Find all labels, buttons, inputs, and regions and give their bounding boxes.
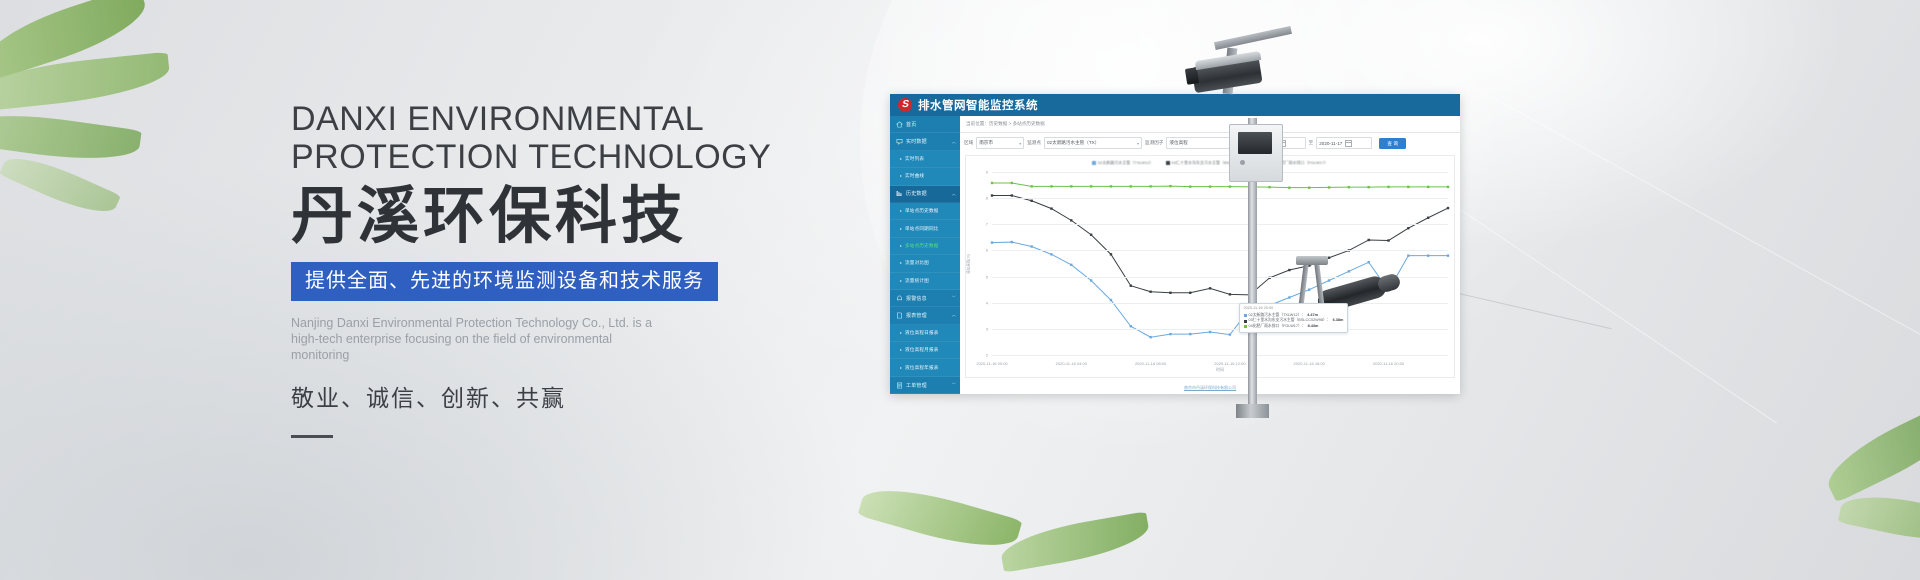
chart-data-point	[1189, 292, 1191, 294]
date-range-separator: 至	[1309, 140, 1314, 146]
hero-description: Nanjing Danxi Environmental Protection T…	[291, 315, 673, 363]
bullet-icon	[900, 280, 902, 282]
chart-data-point	[1130, 325, 1132, 327]
chart-data-point	[1149, 336, 1151, 338]
chart-data-point	[1090, 234, 1092, 236]
chart-data-point	[1070, 219, 1072, 221]
app-body: 首页实时数据︿实时列表实时曲线历史数据︿单站点历史数据单站点同期同比多站点历史数…	[890, 116, 1460, 394]
tooltip-marker-icon	[1244, 325, 1247, 328]
sidebar-item-label: 单站点同期同比	[905, 226, 939, 232]
chart-data-point	[1110, 185, 1112, 187]
chart-data-point	[1288, 186, 1290, 188]
chart-data-point	[1367, 239, 1369, 241]
chart-data-point	[1050, 185, 1052, 187]
bullet-icon	[900, 349, 902, 351]
sidebar-item-label: 实时曲线	[905, 173, 924, 179]
app-footer: 南京市丹溪环保科技有限公司	[960, 382, 1460, 394]
chart-data-point	[1169, 292, 1171, 294]
chart-data-point	[1050, 207, 1052, 209]
chart-data-point	[1011, 241, 1013, 243]
sidebar-item-label: 实时数据	[906, 138, 927, 145]
sidebar-item-10[interactable]: 报警信息﹀	[890, 290, 960, 307]
chart-x-tick-label: 2020-11-16 12:00	[1214, 361, 1245, 366]
chart-data-point	[1367, 186, 1369, 188]
chart-y-tick-label: 9	[968, 170, 988, 175]
sidebar-item-14[interactable]: 液位高程年报表	[890, 359, 960, 376]
chart-data-point	[1407, 186, 1409, 188]
sidebar-item-label: 报表管理	[906, 312, 927, 319]
legend-label: 02太新路污水主管（TXLW12）	[1098, 160, 1154, 166]
tooltip-marker-icon	[1244, 314, 1247, 317]
chart-data-point	[1268, 186, 1270, 188]
chart-data-point	[1328, 186, 1330, 188]
chart-y-tick-label: 2	[968, 353, 988, 358]
sidebar-item-7[interactable]: 多站点历史数据	[890, 238, 960, 255]
company-logo-icon: S	[898, 98, 912, 112]
app-title: 排水管网智能监控系统	[918, 97, 1038, 113]
sidebar-item-label: 实时列表	[905, 156, 924, 162]
chart-data-point	[1169, 185, 1171, 187]
chart-data-point	[991, 182, 993, 184]
tooltip-row-2: 04化肥厂雨水排口（FGLW17）：8.43m	[1244, 324, 1344, 330]
home-icon	[896, 121, 903, 128]
hero-tagline: 提供全面、先进的环境监测设备和技术服务	[291, 262, 718, 301]
chart-data-point	[1348, 270, 1350, 272]
sidebar-item-label: 流量统计图	[905, 278, 929, 284]
page-title: 丹溪环保科技	[291, 180, 851, 254]
equipment-cabinet-indicator	[1240, 160, 1245, 165]
footer-link[interactable]: 南京市丹溪环保科技有限公司	[1184, 385, 1236, 391]
monitoring-dashboard-window: S 排水管网智能监控系统 首页实时数据︿实时列表实时曲线历史数据︿单站点历史数据…	[890, 94, 1460, 394]
chart-x-tick-label: 2020-11-16 16:00	[1294, 361, 1325, 366]
chart-gridline	[992, 224, 1448, 225]
chart-data-point	[1070, 264, 1072, 266]
tooltip-series-value: 8.43m	[1308, 324, 1319, 330]
sidebar-item-label: 单站点历史数据	[905, 208, 939, 214]
chart-data-point	[1427, 186, 1429, 188]
breadcrumb: 当前位置：历史数据 > 多站点历史数据	[960, 116, 1460, 133]
sidebar-item-label: 报警信息	[906, 295, 927, 302]
bullet-icon	[900, 245, 902, 247]
chart-y-tick-label: 8	[968, 196, 988, 201]
factor-select[interactable]: 液位高程 ▾	[1166, 137, 1234, 149]
chart-data-point	[1209, 287, 1211, 289]
chart-data-point	[1229, 293, 1231, 295]
chevron-down-icon[interactable]: ﹀	[952, 295, 956, 301]
chart-y-tick-label: 4	[968, 300, 988, 305]
chart-data-point	[1387, 239, 1389, 241]
chart-data-point	[1090, 185, 1092, 187]
chevron-down-icon[interactable]: ﹀	[952, 382, 956, 388]
chart-y-axis-label: 液位高程(m)	[967, 254, 972, 274]
chart-gridline	[992, 329, 1448, 330]
sidebar-item-label: 流量对比图	[905, 260, 929, 266]
sidebar[interactable]: 首页实时数据︿实时列表实时曲线历史数据︿单站点历史数据单站点同期同比多站点历史数…	[890, 116, 960, 394]
chart-data-point	[991, 194, 993, 196]
sidebar-item-11[interactable]: 报表管理︿	[890, 307, 960, 324]
chart-x-tick-label: 2020-11-16 04:00	[1056, 361, 1087, 366]
bullet-icon	[900, 228, 902, 230]
chart-data-point	[1348, 186, 1350, 188]
sidebar-item-9[interactable]: 流量统计图	[890, 273, 960, 290]
chart-data-point	[1030, 185, 1032, 187]
region-select[interactable]: 南京市 ▾	[976, 137, 1024, 149]
chart-x-tick-label: 2020-11-16 00:00	[976, 361, 1007, 366]
chart-data-point	[1050, 253, 1052, 255]
factor-value: 液位高程	[1169, 140, 1187, 146]
sidebar-item-4[interactable]: 历史数据︿	[890, 186, 960, 203]
history-icon	[896, 190, 903, 197]
tooltip-series-value: 6.38m	[1333, 318, 1344, 324]
chart-data-point	[1407, 254, 1409, 256]
chart-data-point	[1229, 333, 1231, 335]
sidebar-item-5[interactable]: 单站点历史数据	[890, 203, 960, 220]
hero-english-line-1: DANXI ENVIRONMENTAL	[291, 100, 851, 138]
station-select[interactable]: 02太新路污水主管（TX） ▾	[1044, 137, 1142, 149]
chart-data-point	[1328, 279, 1330, 281]
region-value: 南京市	[979, 140, 993, 146]
sidebar-item-0[interactable]: 首页	[890, 116, 960, 133]
realtime-icon	[896, 138, 903, 145]
bullet-icon	[900, 158, 902, 160]
chart-data-point	[1407, 227, 1409, 229]
chart-svg	[992, 172, 1448, 355]
sidebar-item-8[interactable]: 流量对比图	[890, 255, 960, 272]
chart-data-point	[1011, 182, 1013, 184]
chart-data-point	[1149, 185, 1151, 187]
app-titlebar: S 排水管网智能监控系统	[890, 94, 1460, 116]
sidebar-item-label: 液位高程月报表	[905, 347, 939, 353]
chart-data-point	[1070, 185, 1072, 187]
chart-data-point	[1130, 185, 1132, 187]
chart-data-point	[1387, 186, 1389, 188]
tooltip-marker-icon	[1244, 320, 1247, 323]
chart-data-point	[1367, 261, 1369, 263]
end-date-input[interactable]: 2020-11-17	[1316, 137, 1372, 149]
chart-data-point	[1229, 185, 1231, 187]
sidebar-item-label: 首页	[906, 121, 916, 128]
sidebar-item-label: 多站点历史数据	[905, 243, 939, 249]
search-button[interactable]: 查 询	[1379, 138, 1406, 149]
sidebar-item-label: 历史数据	[906, 190, 927, 197]
chevron-down-icon: ▾	[1137, 141, 1139, 146]
chart-data-point	[1110, 299, 1112, 301]
sidebar-item-label: 液位高程日报表	[905, 330, 939, 336]
chart-data-point	[1447, 207, 1449, 209]
hero-divider	[291, 435, 333, 438]
chart-data-point	[1447, 254, 1449, 256]
bullet-icon	[900, 367, 902, 369]
chart-gridline	[992, 303, 1448, 304]
chevron-up-icon[interactable]: ︿	[952, 312, 956, 318]
chevron-up-icon[interactable]: ︿	[952, 191, 956, 197]
chart-gridline	[992, 355, 1448, 356]
chart-data-point	[1189, 185, 1191, 187]
chart-y-tick-label: 3	[968, 326, 988, 331]
chart-gridline	[992, 172, 1448, 173]
chart-data-point	[1427, 254, 1429, 256]
sidebar-item-1[interactable]: 实时数据︿	[890, 133, 960, 150]
station-label: 监测点	[1027, 140, 1041, 146]
end-date-value: 2020-11-17	[1319, 141, 1342, 146]
chart-data-point	[1427, 217, 1429, 219]
hero-slogan: 敬业、诚信、创新、共赢	[291, 379, 851, 413]
chart-data-point	[1030, 200, 1032, 202]
chart-y-tick-label: 7	[968, 222, 988, 227]
sidebar-item-2[interactable]: 实时列表	[890, 151, 960, 168]
chart-card: 02太新路污水主管（TXLW12）03仁十里水沟东支污水主管（BSLCC02W9…	[965, 155, 1455, 378]
chart-gridline	[992, 198, 1448, 199]
region-label: 区域	[964, 140, 973, 146]
chart-tooltip: 2020-11-16 20:0002太新路污水主管（TXLW12）：4.47m0…	[1239, 303, 1349, 333]
chart-data-point	[1011, 194, 1013, 196]
chart-data-point	[1110, 253, 1112, 255]
chart-x-axis-label: 时间	[1216, 367, 1224, 373]
filter-toolbar[interactable]: 区域 南京市 ▾ 监测点 02太新路污水主管（TX） ▾ 监测因子 液位高程 ▾…	[960, 133, 1460, 153]
chart-y-tick-label: 5	[968, 274, 988, 279]
chart-data-point	[1130, 285, 1132, 287]
tooltip-series-name: 04化肥厂雨水排口（FGLW17）：	[1249, 324, 1306, 330]
calendar-icon	[1345, 140, 1352, 147]
bullet-icon	[900, 262, 902, 264]
chart-plot-area: 液位高程(m) 时间 2020-11-16 20:0002太新路污水主管（TXL…	[992, 172, 1448, 355]
sidebar-item-6[interactable]: 单站点同期同比	[890, 220, 960, 237]
bell-icon	[896, 295, 903, 302]
chart-data-point	[1308, 186, 1310, 188]
legend-item-0[interactable]: 02太新路污水主管（TXLW12）	[1092, 160, 1154, 166]
chart-data-point	[1308, 288, 1310, 290]
bullet-icon	[900, 210, 902, 212]
chart-data-point	[1288, 296, 1290, 298]
chart-data-point	[1030, 245, 1032, 247]
chevron-up-icon[interactable]: ︿	[952, 139, 956, 145]
chart-data-point	[1189, 333, 1191, 335]
chevron-down-icon: ▾	[1019, 141, 1021, 146]
bullet-icon	[900, 175, 902, 177]
chart-data-point	[1209, 331, 1211, 333]
chart-data-point	[1090, 279, 1092, 281]
sidebar-item-label: 液位高程年报表	[905, 365, 939, 371]
chart-x-tick-label: 2020-11-16 08:00	[1135, 361, 1166, 366]
chart-data-point	[1447, 186, 1449, 188]
chart-data-point	[1209, 185, 1211, 187]
main-content: 当前位置：历史数据 > 多站点历史数据 区域 南京市 ▾ 监测点 02太新路污水…	[960, 116, 1460, 394]
chart-y-tick-label: 6	[968, 248, 988, 253]
report-icon	[896, 312, 903, 319]
tooltip-date: 2020-11-16 20:00	[1244, 306, 1344, 312]
equipment-cabinet-screen	[1238, 132, 1272, 154]
chart-data-point	[1328, 257, 1330, 259]
chart-x-tick-label: 2020-11-16 20:00	[1373, 361, 1404, 366]
chart-legend[interactable]: 02太新路污水主管（TXLW12）03仁十里水沟东支污水主管（BSLCC02W9…	[966, 160, 1454, 166]
chart-gridline	[992, 250, 1448, 251]
hero-english-line-2: PROTECTION TECHNOLOGY	[291, 138, 851, 176]
chart-series-line-2	[992, 183, 1448, 188]
tripod-head	[1296, 256, 1328, 265]
sidebar-item-15[interactable]: 工单管理﹀	[890, 377, 960, 394]
legend-marker-icon	[1092, 161, 1096, 165]
station-value: 02太新路污水主管（TX）	[1047, 140, 1099, 146]
legend-marker-icon	[1166, 161, 1170, 165]
camera-pole-base	[1236, 404, 1269, 418]
chart-data-point	[1169, 333, 1171, 335]
chart-data-point	[1288, 269, 1290, 271]
sidebar-item-12[interactable]: 液位高程日报表	[890, 325, 960, 342]
chart-data-point	[1149, 291, 1151, 293]
logo-glyph: S	[901, 100, 910, 110]
sidebar-item-13[interactable]: 液位高程月报表	[890, 342, 960, 359]
order-icon	[896, 382, 903, 389]
chart-data-point	[991, 241, 993, 243]
sidebar-item-3[interactable]: 实时曲线	[890, 168, 960, 185]
sidebar-item-label: 工单管理	[906, 382, 927, 389]
factor-label: 监测因子	[1145, 140, 1163, 146]
bullet-icon	[900, 332, 902, 334]
hero-copy: DANXI ENVIRONMENTAL PROTECTION TECHNOLOG…	[291, 100, 851, 438]
